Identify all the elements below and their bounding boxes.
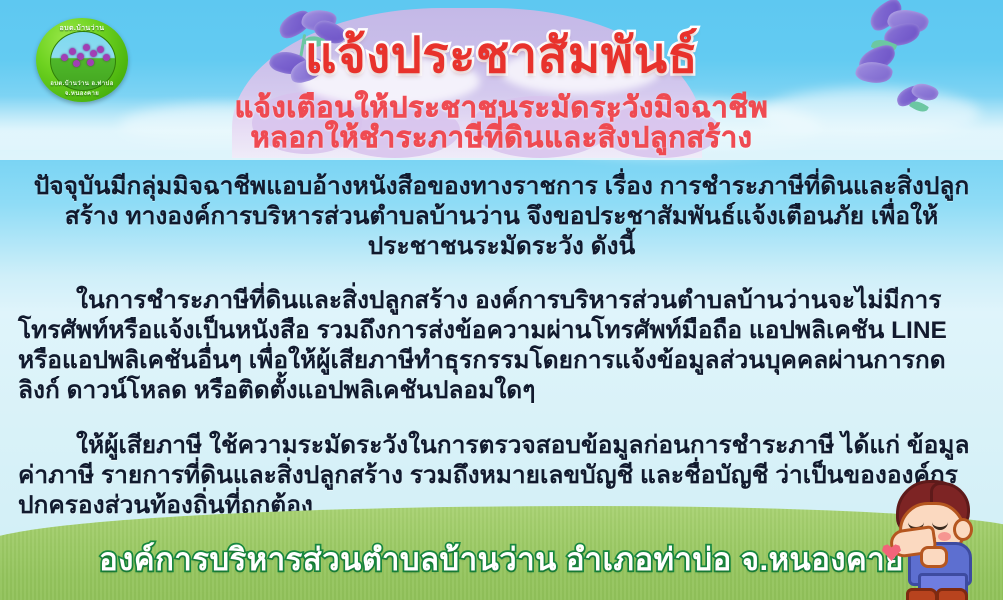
mascot-shoe-right bbox=[936, 588, 968, 600]
announcement-poster: อบต.บ้านว่าน อบต.บ้านว่าน อ.ท่าบ่อ จ.หนอ… bbox=[0, 0, 1003, 600]
footer-organization-name: องค์การบริหารส่วนตำบลบ้านว่าน อำเภอท่าบ่… bbox=[0, 534, 1003, 584]
mascot-ear bbox=[953, 518, 973, 541]
paragraph-1: ปัจจุบันมีกลุ่มมิจฉาชีพแอบอ้างหนังสือของ… bbox=[18, 172, 985, 262]
page-title: แจ้งประชาสัมพันธ์ bbox=[0, 16, 1003, 94]
paragraph-2: ในการชำระภาษีที่ดินและสิ่งปลูกสร้าง องค์… bbox=[18, 286, 985, 406]
bowing-boy-mascot bbox=[878, 480, 998, 598]
mascot-shoe-left bbox=[906, 588, 938, 600]
mascot-cheek-right bbox=[938, 532, 951, 541]
mascot-hands-wai bbox=[920, 546, 948, 568]
